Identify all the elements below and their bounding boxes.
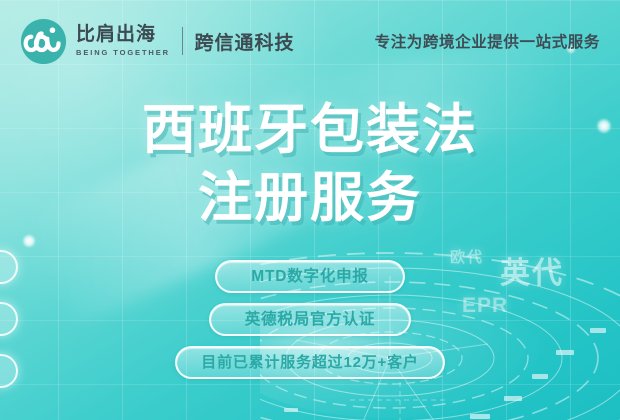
headline-block: 西班牙包装法 注册服务 — [0, 96, 620, 232]
feature-pill-customer-count[interactable]: 目前已累计服务超过12万+客户 — [175, 346, 444, 379]
being-together-circle-logo-icon — [20, 18, 67, 65]
header-tagline: 专注为跨境企业提供一站式服务 — [375, 30, 600, 52]
header-divider — [182, 27, 184, 55]
brand-name-cn: 比肩出海 — [76, 25, 170, 45]
feature-pill-mtd[interactable]: MTD数字化申报 — [215, 260, 404, 293]
headline-line-1: 西班牙包装法 — [0, 96, 620, 164]
feature-pill-certification[interactable]: 英德税局官方认证 — [209, 303, 411, 336]
brand-text-block: 比肩出海 BEING TOGETHER 跨信通科技 — [76, 25, 294, 57]
brand-logo[interactable]: 比肩出海 BEING TOGETHER 跨信通科技 — [20, 18, 294, 65]
headline-line-2: 注册服务 — [0, 164, 620, 232]
glow-dot-icon — [22, 234, 36, 248]
promotional-banner: 欧代 英代 EPR 比肩出海 BEING TOGETHER 跨信通科技 — [0, 0, 620, 420]
feature-pill-list: MTD数字化申报 英德税局官方认证 目前已累计服务超过12万+客户 — [0, 260, 620, 379]
brand-name-en: BEING TOGETHER — [76, 48, 170, 57]
partner-name: 跨信通科技 — [194, 28, 294, 55]
banner-header: 比肩出海 BEING TOGETHER 跨信通科技 专注为跨境企业提供一站式服务 — [0, 0, 620, 82]
